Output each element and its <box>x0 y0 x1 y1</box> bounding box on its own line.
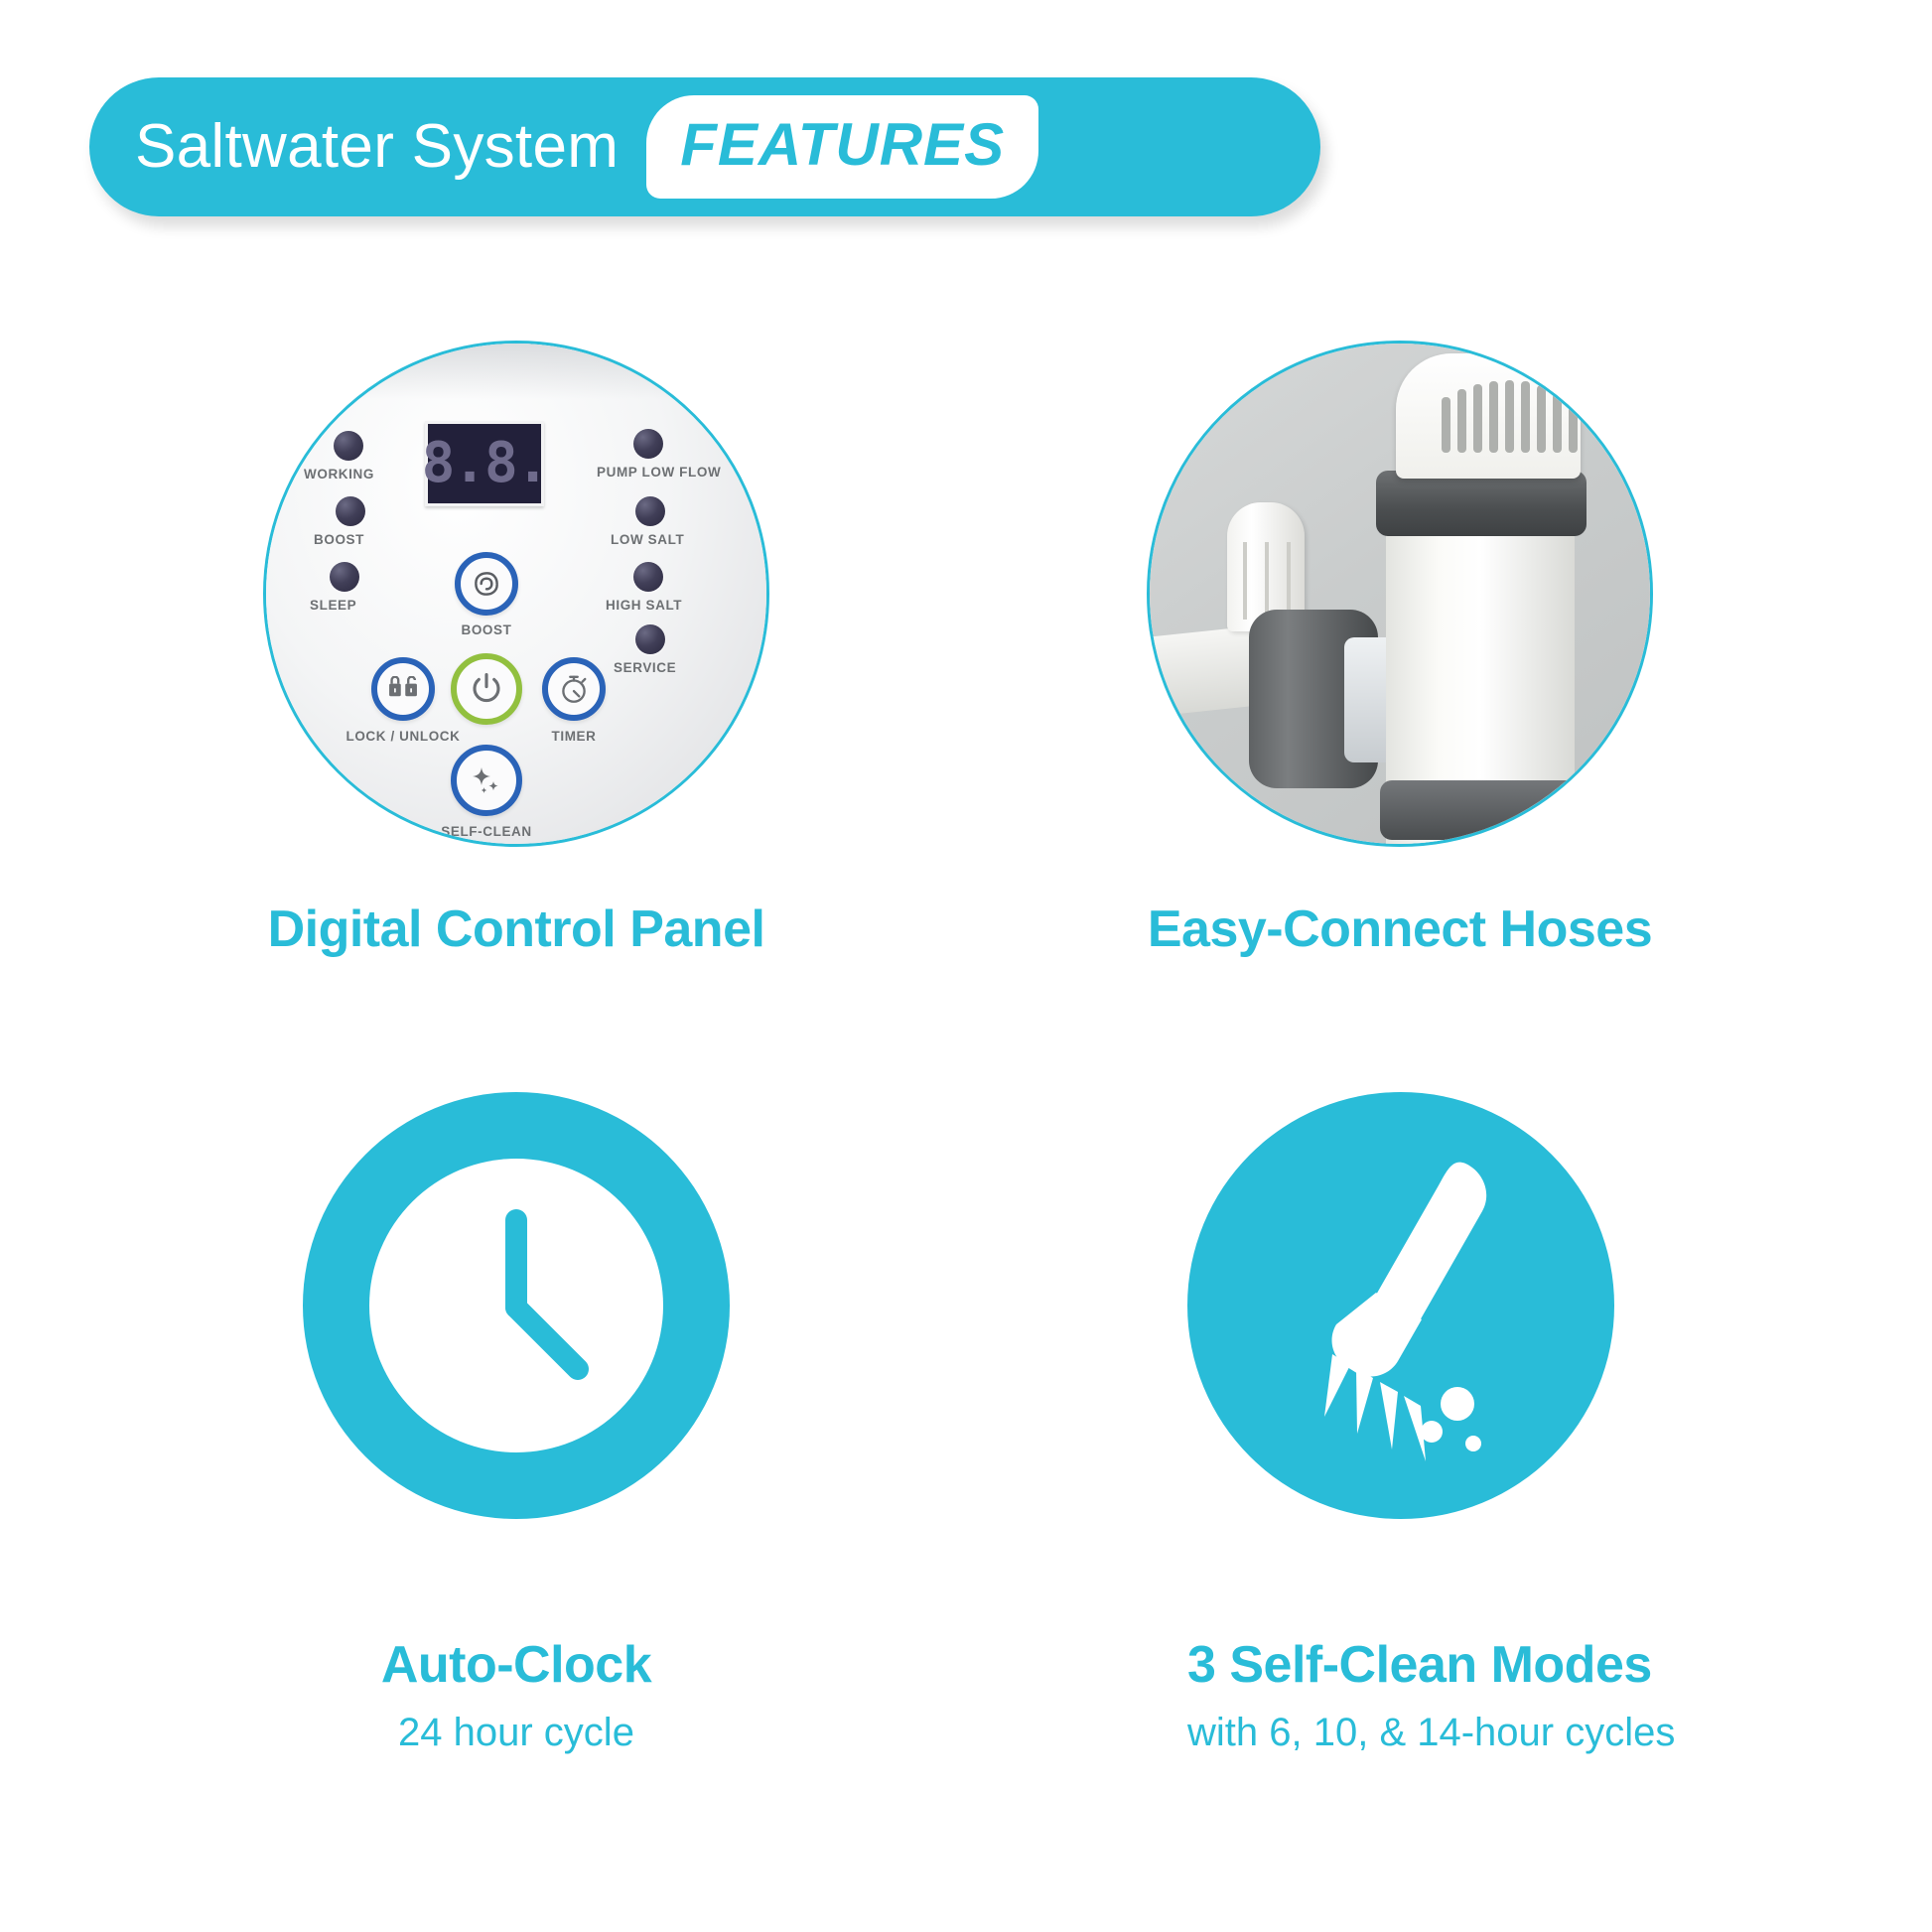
swirl-icon <box>470 567 503 601</box>
page-title: Saltwater System <box>135 116 619 178</box>
photo-hose-connector <box>1147 341 1653 847</box>
led-working <box>334 431 363 461</box>
auto-clock-icon-badge <box>303 1092 730 1519</box>
hose-left-cap-rib-3 <box>1287 542 1291 620</box>
led-label-high-salt: HIGH SALT <box>606 598 682 613</box>
feature-title-self-clean-modes: 3 Self-Clean Modes <box>1187 1638 1614 1693</box>
stopwatch-icon <box>558 672 590 706</box>
feature-easy-connect-hoses: Easy-Connect Hoses <box>1147 341 1653 957</box>
features-badge-label: FEATURES <box>680 115 1005 175</box>
led-boost <box>336 496 365 526</box>
lock-unlock-button-label: LOCK / UNLOCK <box>332 729 475 744</box>
hose-left-cap-rib-2 <box>1265 542 1269 620</box>
self-clean-icon-badge <box>1187 1092 1614 1519</box>
feature-infographic: Saltwater System FEATURES WORKING BOOST … <box>0 0 1932 1932</box>
lock-unlock-button[interactable] <box>371 657 435 721</box>
self-clean-button[interactable] <box>451 745 522 816</box>
hose-left-cap-rib-1 <box>1243 542 1247 620</box>
led-low-salt <box>635 496 665 526</box>
feature-subtitle-auto-clock: 24 hour cycle <box>303 1711 730 1754</box>
led-service <box>635 624 665 654</box>
timer-button-label: TIMER <box>534 729 614 744</box>
display-value: 8.8. <box>422 436 548 491</box>
boost-button[interactable] <box>455 552 518 616</box>
led-label-service: SERVICE <box>614 660 676 675</box>
led-label-working: WORKING <box>304 467 374 482</box>
photo-control-panel: WORKING BOOST SLEEP 8.8. PUMP LOW FLOW L… <box>263 341 769 847</box>
led-label-pump-low-flow: PUMP LOW FLOW <box>597 465 721 480</box>
power-icon <box>470 671 503 707</box>
control-panel-top-shading <box>266 344 766 399</box>
boost-button-label: BOOST <box>455 622 518 637</box>
power-button[interactable] <box>451 653 522 725</box>
sparkle-icon <box>467 760 506 800</box>
seven-segment-display: 8.8. <box>425 421 544 506</box>
feature-subtitle-self-clean-modes: with 6, 10, & 14-hour cycles <box>1187 1711 1614 1754</box>
hose-collar-nut-top <box>1376 471 1587 536</box>
features-badge: FEATURES <box>646 95 1038 199</box>
padlock-icon <box>385 676 421 702</box>
feature-self-clean-modes: 3 Self-Clean Modes with 6, 10, & 14-hour… <box>1187 1092 1614 1754</box>
led-sleep <box>330 562 359 592</box>
feature-title-easy-connect-hoses: Easy-Connect Hoses <box>1147 902 1653 957</box>
hose-cap-vent-slots <box>1438 377 1587 469</box>
timer-button[interactable] <box>542 657 606 721</box>
led-high-salt <box>633 562 663 592</box>
feature-auto-clock: Auto-Clock 24 hour cycle <box>303 1092 730 1754</box>
feature-title-digital-control-panel: Digital Control Panel <box>263 902 769 957</box>
led-pump-low-flow <box>633 429 663 459</box>
self-clean-button-label: SELF-CLEAN <box>433 824 540 839</box>
header-banner: Saltwater System FEATURES <box>89 77 1320 216</box>
led-label-boost: BOOST <box>314 532 364 547</box>
hose-collar-nut-bottom <box>1380 780 1585 840</box>
clock-icon <box>367 1157 665 1454</box>
feature-title-auto-clock: Auto-Clock <box>303 1638 730 1693</box>
led-label-low-salt: LOW SALT <box>611 532 684 547</box>
broom-icon <box>1237 1142 1565 1469</box>
feature-digital-control-panel: WORKING BOOST SLEEP 8.8. PUMP LOW FLOW L… <box>263 341 769 957</box>
led-label-sleep: SLEEP <box>310 598 356 613</box>
